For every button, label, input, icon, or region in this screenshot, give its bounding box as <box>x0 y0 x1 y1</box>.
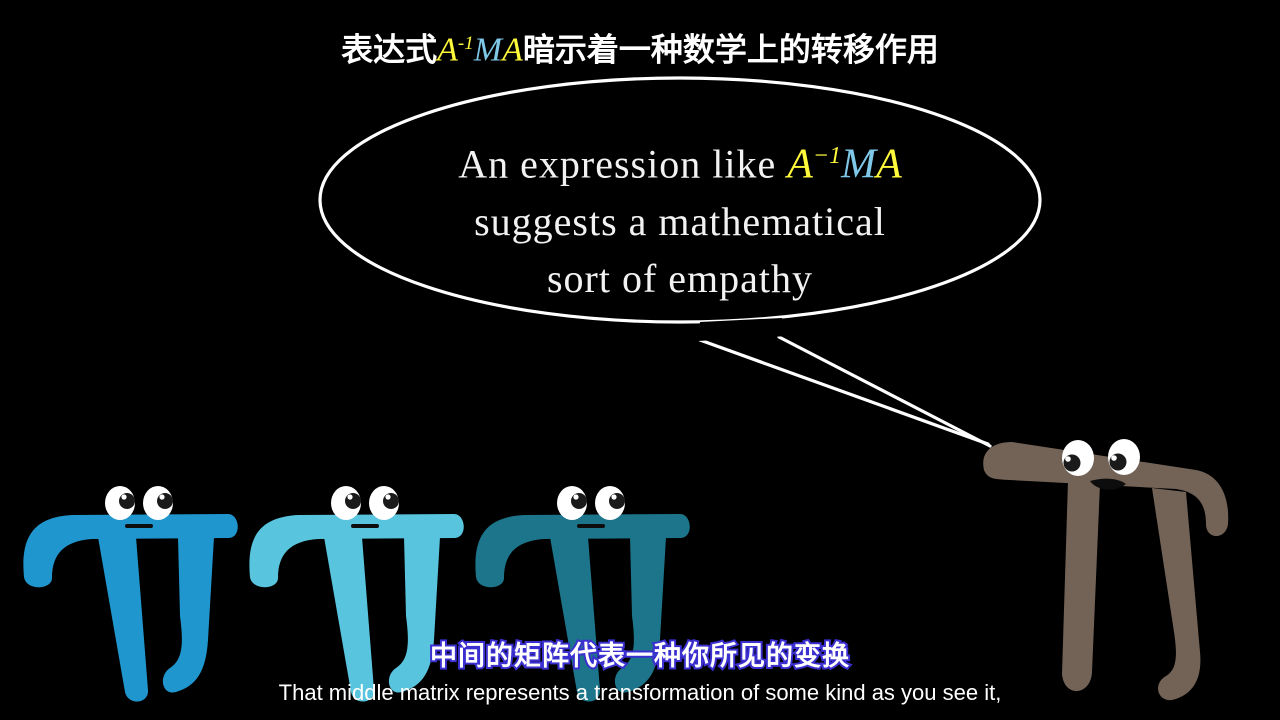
pi-creature-1-left-eye <box>105 486 135 520</box>
video-frame: 表达式A-1MA暗示着一种数学上的转移作用 <box>0 0 1280 720</box>
speech-bubble-line-1: An expression like A−1MA <box>335 128 1025 193</box>
title-math-a2: A <box>502 32 523 69</box>
pi-creature-brown-right-pupil <box>1110 454 1127 471</box>
title-math-superscript: -1 <box>458 33 474 54</box>
pi-creature-3-left-eye <box>557 486 587 520</box>
speech-bubble-math-a: A <box>787 141 813 187</box>
pi-creature-3-left-pupil <box>571 493 587 509</box>
pi-creature-1-left-pupil <box>119 493 135 509</box>
title-prefix: 表达式 <box>341 32 437 68</box>
pi-creature-brown-left-pupil <box>1064 455 1081 472</box>
page-title: 表达式A-1MA暗示着一种数学上的转移作用 <box>0 24 1280 71</box>
subtitle-english: That middle matrix represents a transfor… <box>0 679 1280 707</box>
pi-creature-2-mouth <box>351 524 379 528</box>
title-math-a: A <box>437 32 458 69</box>
pi-creature-1-right-pupil <box>157 493 173 509</box>
pi-creature-2-body <box>249 514 463 702</box>
pi-creature-2-right-eye <box>369 486 399 520</box>
speech-bubble-tail <box>700 337 990 446</box>
subtitle-chinese: 中间的矩阵代表一种你所见的变换 <box>0 640 1280 672</box>
speech-bubble-line-2: suggests a mathematical <box>335 193 1025 250</box>
speech-bubble-math-m: M <box>841 141 876 187</box>
pi-creature-brown-mouth <box>1090 479 1126 490</box>
pi-creature-3-right-eye <box>595 486 625 520</box>
pi-creature-brown-face <box>1062 439 1140 490</box>
pi-creature-3-face <box>557 486 625 528</box>
speech-bubble-line-3: sort of empathy <box>335 250 1025 307</box>
title-math-m: M <box>474 32 502 69</box>
pi-creature-1-face <box>105 486 173 528</box>
pi-creature-1-mouth <box>125 524 153 528</box>
pi-creature-1-right-eye <box>143 486 173 520</box>
title-suffix: 暗示着一种数学上的转移作用 <box>523 32 939 68</box>
tail-join-mask <box>698 318 788 341</box>
pi-creature-brown-left-eye <box>1062 440 1094 476</box>
speech-bubble-line-1-prefix: An expression like <box>458 141 787 186</box>
pi-creature-1-body <box>23 514 237 702</box>
speech-bubble-math-a2: A <box>876 141 902 187</box>
pi-creature-brown-right-eye <box>1108 439 1140 475</box>
pi-creature-2-right-pupil <box>383 493 399 509</box>
pi-creature-3-body <box>475 514 689 702</box>
pi-creature-3-right-pupil <box>609 493 625 509</box>
speech-bubble-math-superscript: −1 <box>813 143 841 169</box>
pi-creature-2-left-eye <box>331 486 361 520</box>
pi-creature-2-left-pupil <box>345 493 361 509</box>
pi-creature-2-face <box>331 486 399 528</box>
speech-bubble-text: An expression like A−1MA suggests a math… <box>335 128 1025 307</box>
pi-creature-3-mouth <box>577 524 605 528</box>
